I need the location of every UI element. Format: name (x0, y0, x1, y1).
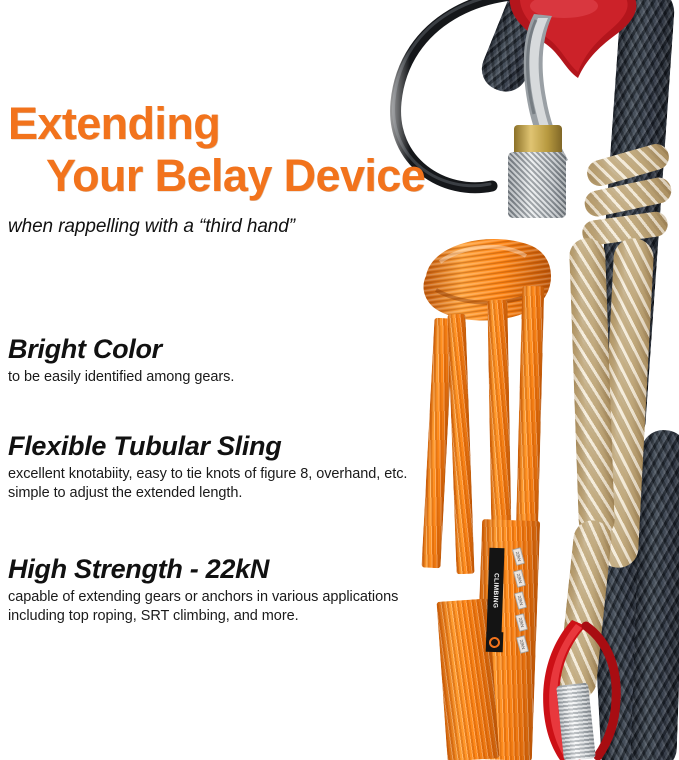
feature-body-line: excellent knotabiity, easy to tie knots … (8, 465, 460, 484)
feature-body: capable of extending gears or anchors in… (8, 588, 460, 625)
gm-logo-mark (486, 632, 504, 653)
feature-body-line: simple to adjust the extended length. (8, 484, 460, 503)
feature-block-flexible-tubular-sling: Flexible Tubular Sling excellent knotabi… (8, 430, 460, 502)
text-column: Extending Your Belay Device when rappell… (0, 0, 470, 760)
feature-body-line: capable of extending gears or anchors in… (8, 588, 460, 607)
feature-body: excellent knotabiity, easy to tie knots … (8, 465, 460, 502)
headline-line-1: Extending (8, 98, 468, 150)
headline-line-2: Your Belay Device (46, 150, 468, 202)
feature-block-bright-color: Bright Color to be easily identified amo… (8, 333, 460, 387)
feature-block-high-strength: High Strength - 22kN capable of extendin… (8, 553, 460, 625)
feature-title: Flexible Tubular Sling (8, 430, 460, 462)
feature-title: Bright Color (8, 333, 460, 365)
feature-body-line: to be easily identified among gears. (8, 368, 460, 387)
sling-brand-text: CLIMBING (491, 573, 499, 609)
feature-title: High Strength - 22kN (8, 553, 460, 585)
feature-body-line: including top roping, SRT climbing, and … (8, 607, 460, 626)
screwlock-barrel (508, 152, 566, 218)
feature-body: to be easily identified among gears. (8, 368, 460, 387)
page-title: Extending Your Belay Device (8, 98, 468, 202)
subtitle: when rappelling with a “third hand” (8, 216, 468, 238)
sling-brand-label: CLIMBING (487, 548, 505, 634)
